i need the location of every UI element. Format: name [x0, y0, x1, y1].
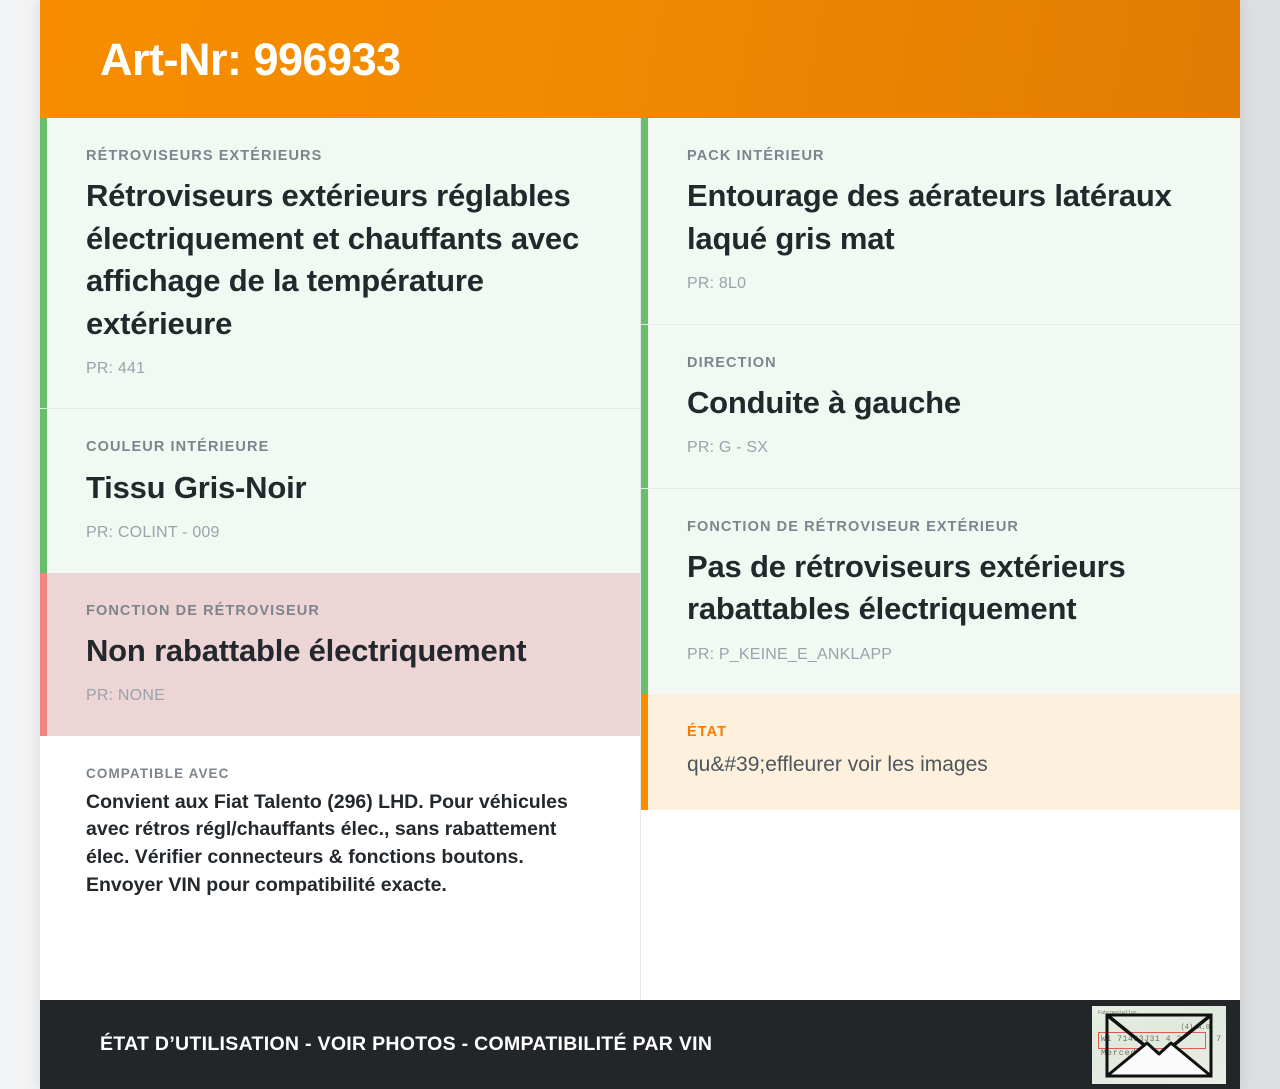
status-accent-green — [40, 118, 47, 408]
spec-pr-code: PR: 8L0 — [687, 274, 1194, 293]
spec-value: Rétroviseurs extérieurs réglables électr… — [86, 175, 594, 345]
spec-label: COULEUR INTÉRIEURE — [86, 439, 594, 456]
vin-document-badge: Fahrgestellnr. (4) A.0 W1 71463J31 4 3 7… — [1092, 1006, 1226, 1084]
status-accent-green — [641, 118, 648, 324]
spec-label: FONCTION DE RÉTROVISEUR — [86, 603, 594, 620]
etat-label: ÉTAT — [687, 724, 1194, 741]
spec-columns: RÉTROVISEURS EXTÉRIEURS Rétroviseurs ext… — [40, 118, 1240, 1000]
spec-label: RÉTROVISEURS EXTÉRIEURS — [86, 148, 594, 165]
page-title: Art-Nr: 996933 — [40, 37, 401, 82]
spec-pr-code: PR: P_KEINE_E_ANKLAPP — [687, 645, 1194, 664]
spec-pr-code: PR: COLINT - 009 — [86, 523, 594, 542]
spec-card-couleur-interieure: COULEUR INTÉRIEURE Tissu Gris-Noir PR: C… — [40, 408, 640, 572]
header-banner: Art-Nr: 996933 — [40, 0, 1240, 118]
footer-bar: ÉTAT D’UTILISATION - VOIR PHOTOS - COMPA… — [40, 1000, 1240, 1089]
right-column: PACK INTÉRIEUR Entourage des aérateurs l… — [641, 118, 1240, 1000]
right-column-filler — [641, 810, 1240, 1000]
spec-pr-code: PR: 441 — [86, 359, 594, 378]
compatibility-text: Convient aux Fiat Talento (296) LHD. Pou… — [86, 789, 594, 900]
spec-value: Non rabattable électriquement — [86, 630, 594, 672]
left-column: RÉTROVISEURS EXTÉRIEURS Rétroviseurs ext… — [40, 118, 641, 1000]
status-accent-red — [40, 573, 47, 736]
spec-label: DIRECTION — [687, 355, 1194, 372]
spec-card-retroviseurs-exterieurs: RÉTROVISEURS EXTÉRIEURS Rétroviseurs ext… — [40, 118, 640, 408]
spec-pr-code: PR: G - SX — [687, 438, 1194, 457]
envelope-icon — [1105, 1013, 1213, 1078]
status-accent-green — [641, 325, 648, 488]
status-accent-none — [40, 736, 47, 930]
spec-value: Entourage des aérateurs latéraux laqué g… — [687, 175, 1194, 260]
product-spec-sheet: Art-Nr: 996933 RÉTROVISEURS EXTÉRIEURS R… — [40, 0, 1240, 1089]
status-accent-orange — [641, 694, 648, 810]
spec-value: Conduite à gauche — [687, 382, 1194, 424]
status-accent-green — [641, 489, 648, 695]
spec-value: Pas de rétroviseurs extérieurs rabattabl… — [687, 546, 1194, 631]
spec-label: PACK INTÉRIEUR — [687, 148, 1194, 165]
left-column-filler — [40, 929, 640, 1000]
etat-text: qu&#39;effleurer voir les images — [687, 751, 1194, 779]
status-accent-green — [40, 409, 47, 572]
compatibility-block: COMPATIBLE AVEC Convient aux Fiat Talent… — [40, 736, 640, 930]
spec-value: Tissu Gris-Noir — [86, 467, 594, 509]
doc-vin-tail-text: 7 — [1216, 1035, 1221, 1044]
footer-notice: ÉTAT D’UTILISATION - VOIR PHOTOS - COMPA… — [100, 1033, 712, 1056]
spec-card-fonction-de-retroviseur-exterieur: FONCTION DE RÉTROVISEUR EXTÉRIEUR Pas de… — [641, 488, 1240, 695]
spec-label: FONCTION DE RÉTROVISEUR EXTÉRIEUR — [687, 519, 1194, 536]
spec-card-fonction-de-retroviseur: FONCTION DE RÉTROVISEUR Non rabattable é… — [40, 573, 640, 736]
etat-block: ÉTAT qu&#39;effleurer voir les images — [641, 694, 1240, 810]
spec-card-direction: DIRECTION Conduite à gauche PR: G - SX — [641, 324, 1240, 488]
spec-pr-code: PR: NONE — [86, 686, 594, 705]
compatibility-label: COMPATIBLE AVEC — [86, 766, 594, 781]
spec-card-pack-interieur: PACK INTÉRIEUR Entourage des aérateurs l… — [641, 118, 1240, 324]
